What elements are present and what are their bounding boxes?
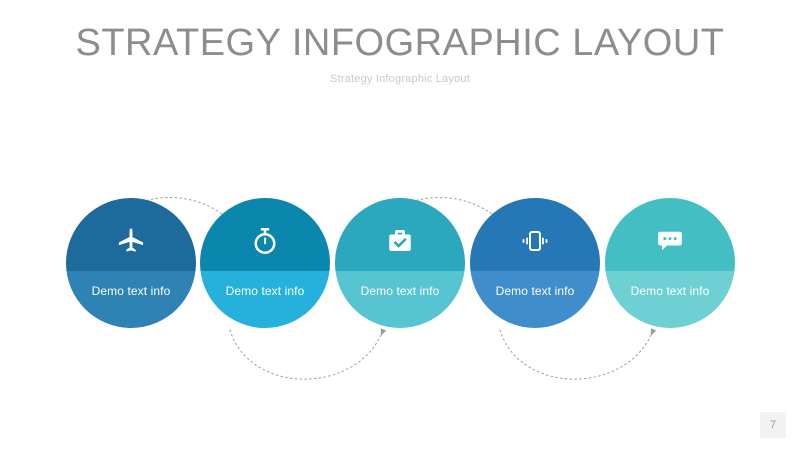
- vibrate-phone-icon: [470, 220, 600, 262]
- step-circle-bottom-half-2: [200, 271, 330, 328]
- step-label-4: Demo text info: [470, 284, 600, 298]
- airplane-icon: [66, 220, 196, 262]
- page-number: 7: [770, 419, 776, 431]
- page-title: STRATEGY INFOGRAPHIC LAYOUT: [0, 24, 800, 64]
- chat-bubble-icon: [605, 220, 735, 262]
- step-circle-4: [470, 198, 600, 328]
- step-label-2: Demo text info: [200, 284, 330, 298]
- briefcase-check-icon: [335, 220, 465, 262]
- step-node-3[interactable]: Demo text info: [335, 198, 465, 328]
- slide-canvas: STRATEGY INFOGRAPHIC LAYOUT Strategy Inf…: [0, 0, 800, 450]
- stopwatch-icon: [200, 220, 330, 262]
- step-label-1: Demo text info: [66, 284, 196, 298]
- step-circle-bottom-half-5: [605, 271, 735, 328]
- step-node-1[interactable]: Demo text info: [66, 198, 196, 328]
- arc-step4-to-step5: [500, 330, 652, 379]
- step-node-5[interactable]: Demo text info: [605, 198, 735, 328]
- page-number-badge: 7: [760, 412, 786, 438]
- step-label-3: Demo text info: [335, 284, 465, 298]
- step-label-5: Demo text info: [605, 284, 735, 298]
- arc-step2-to-step3: [230, 330, 382, 379]
- step-circle-3: [335, 198, 465, 328]
- infographic-diagram: Demo text info Demo text info: [0, 140, 800, 390]
- step-circle-bottom-half-4: [470, 271, 600, 328]
- step-circle-2: [200, 198, 330, 328]
- page-subtitle: Strategy Infographic Layout: [0, 73, 800, 85]
- step-circle-5: [605, 198, 735, 328]
- step-circle-1: [66, 198, 196, 328]
- step-circle-bottom-half-3: [335, 271, 465, 328]
- step-node-2[interactable]: Demo text info: [200, 198, 330, 328]
- title-block: STRATEGY INFOGRAPHIC LAYOUT Strategy Inf…: [0, 24, 800, 85]
- step-circle-bottom-half-1: [66, 271, 196, 328]
- step-node-4[interactable]: Demo text info: [470, 198, 600, 328]
